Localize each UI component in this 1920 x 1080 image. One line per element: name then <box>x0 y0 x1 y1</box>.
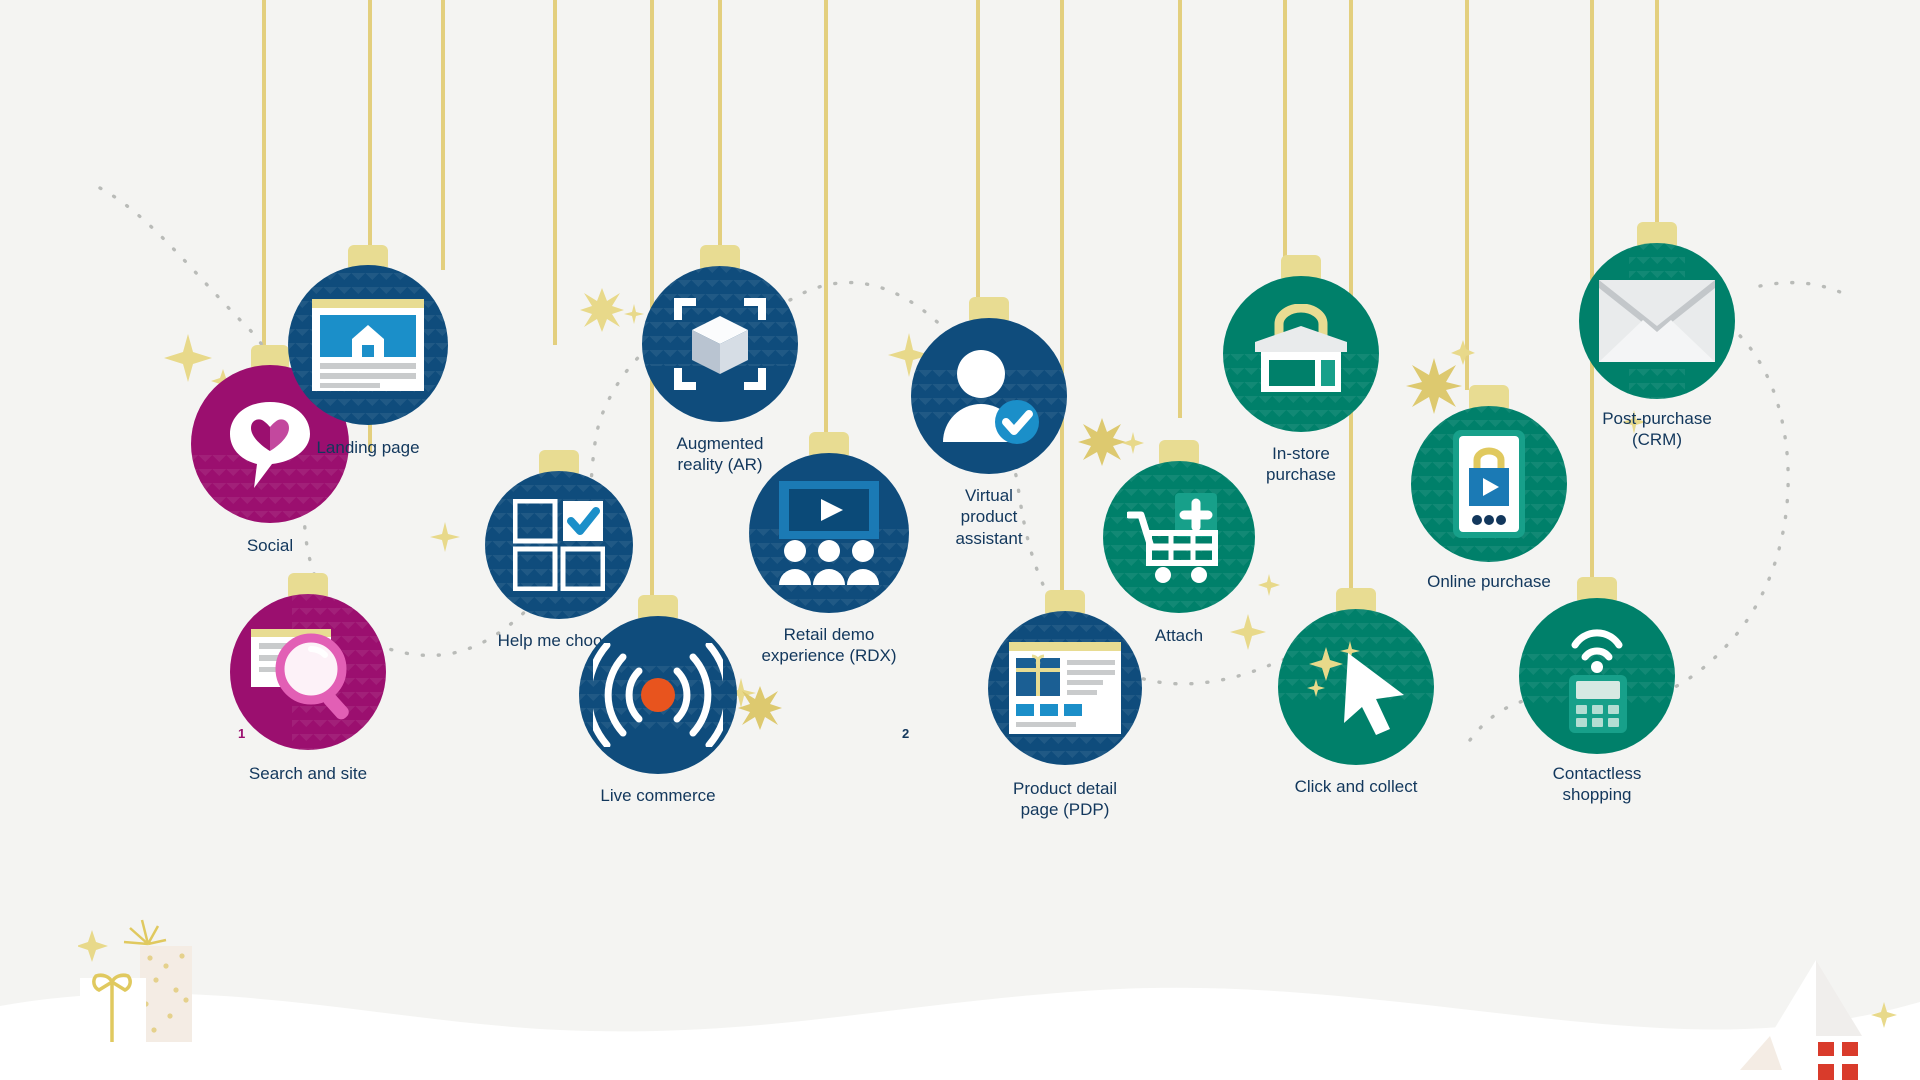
ornament-label: Landing page <box>316 437 419 458</box>
ornament-label: Virtual product assistant <box>955 485 1022 549</box>
ornament-label: Contactless shopping <box>1553 763 1642 806</box>
ornament-label: Product detail page (PDP) <box>1013 778 1117 821</box>
ornament-ball <box>288 265 448 425</box>
ornament-label: In-store purchase <box>1266 443 1336 486</box>
demo-screen-people-icon <box>773 481 885 585</box>
ornament-search-and-site[interactable]: Search and site <box>218 573 398 803</box>
sparkle-decoration <box>738 686 782 730</box>
sparkle-decoration <box>428 520 462 554</box>
ornament-ball <box>579 616 737 774</box>
storefront-bag-icon <box>1247 304 1355 404</box>
ornament-contactless-shopping[interactable]: Contactless shopping <box>1518 577 1676 817</box>
ornament-label: Retail demo experience (RDX) <box>761 624 896 667</box>
ornament-string <box>1465 0 1469 390</box>
phone-bag-icon <box>1451 428 1527 540</box>
ornament-label: Search and site <box>249 763 367 784</box>
ornament-landing-page[interactable]: Landing page <box>287 245 449 465</box>
ornament-label: Social <box>247 535 293 556</box>
magnifier-browser-icon <box>249 617 367 727</box>
ornament-ball <box>1278 609 1434 765</box>
ornament-retail-demo-experience[interactable]: Retail demo experience (RDX) <box>748 432 910 682</box>
sparkle-decoration <box>580 288 624 332</box>
snow-drift <box>0 910 1920 1080</box>
cursor-sparkle-icon <box>1296 633 1416 741</box>
ornament-label: Click and collect <box>1295 776 1418 797</box>
ornament-click-and-collect[interactable]: Click and collect <box>1277 588 1435 823</box>
gift-boxes-left <box>78 900 238 1060</box>
ornament-journey-canvas: 1 2 Social <box>0 0 1920 1080</box>
ornament-string <box>718 0 722 256</box>
contactless-terminal-icon <box>1553 617 1641 735</box>
ornament-label: Post-purchase (CRM) <box>1602 408 1712 451</box>
ornament-post-purchase[interactable]: Post-purchase (CRM) <box>1578 222 1736 472</box>
ornament-string <box>441 0 445 270</box>
grid-checkbox-icon <box>513 499 605 591</box>
envelope-icon <box>1599 280 1715 362</box>
ornament-ball <box>911 318 1067 474</box>
ornament-ball <box>1519 598 1675 754</box>
person-check-icon <box>937 348 1041 444</box>
ornament-label: Attach <box>1155 625 1203 646</box>
ornament-live-commerce[interactable]: Live commerce <box>578 595 738 840</box>
ornament-string <box>1178 0 1182 418</box>
ornament-in-store-purchase[interactable]: In-store purchase <box>1222 255 1380 500</box>
ornament-ball <box>1579 243 1735 399</box>
browser-window-icon <box>312 299 424 391</box>
ar-cube-icon <box>672 296 768 392</box>
ornament-ball <box>1223 276 1379 432</box>
ornament-label: Live commerce <box>600 785 715 806</box>
ornament-string <box>824 0 828 448</box>
broadcast-waves-icon <box>593 643 723 747</box>
ornament-string <box>553 0 557 345</box>
sparkle-decoration <box>1448 338 1478 368</box>
ornament-string <box>262 0 266 360</box>
cart-plus-icon <box>1127 491 1231 583</box>
ornament-string <box>976 0 980 308</box>
ornament-string <box>1655 0 1659 228</box>
gift-tree-right <box>1720 950 1900 1080</box>
marker-number-2: 2 <box>902 726 909 741</box>
ornament-ball <box>1411 406 1567 562</box>
ornament-ball <box>230 594 386 750</box>
ornament-string <box>1283 0 1287 262</box>
ornament-ball <box>749 453 909 613</box>
ornament-virtual-product-assistant[interactable]: Virtual product assistant <box>910 297 1068 562</box>
ornament-ball <box>642 266 798 422</box>
